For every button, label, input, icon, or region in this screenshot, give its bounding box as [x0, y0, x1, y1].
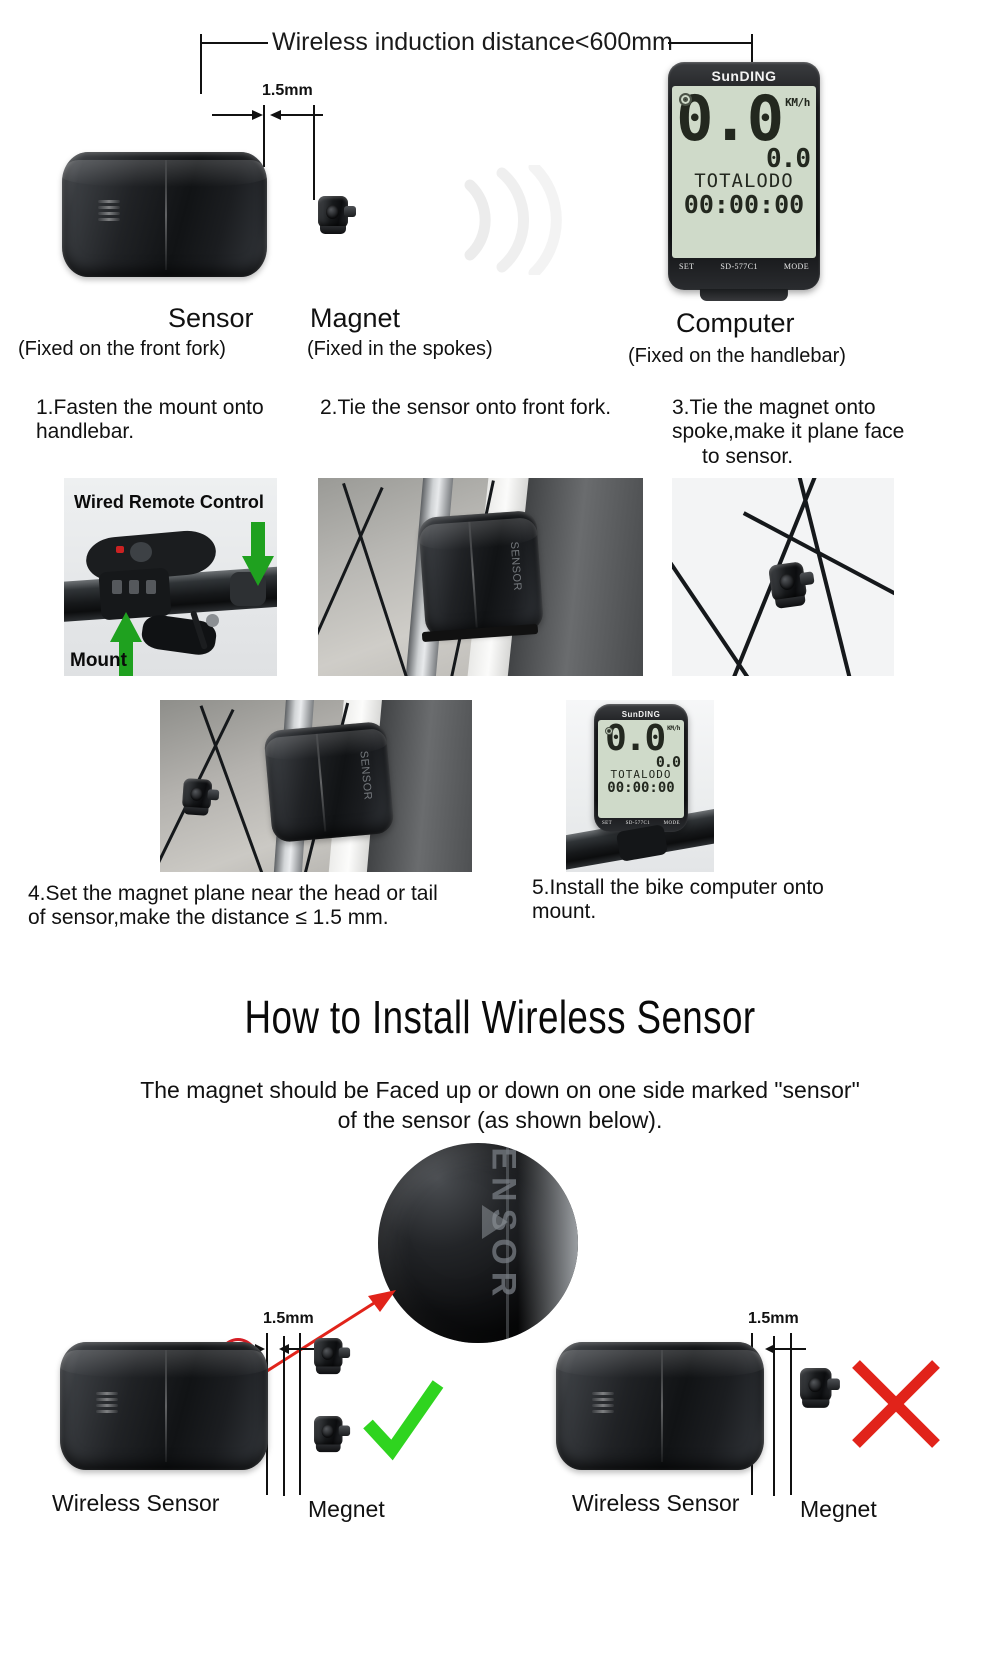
part-sub-magnet: (Fixed in the spokes) — [307, 338, 493, 361]
sensor-seam — [316, 734, 327, 832]
label-magnet-left: Megnet — [308, 1496, 385, 1523]
wireless-sensor-right: SENSOR — [556, 1342, 764, 1470]
wireless-signal-waves — [430, 165, 570, 275]
check-mark-icon — [360, 1378, 444, 1462]
label-wireless-sensor-right: Wireless Sensor — [572, 1490, 739, 1517]
magnet-hole — [322, 1347, 334, 1360]
step-1-line1: 1.Fasten the mount onto — [36, 396, 306, 420]
arrow-to-remote-icon — [240, 520, 276, 588]
sensor-seam — [165, 160, 167, 270]
lcd-screen: 0.0 KM/h 0.0 TOTALODO 00:00:00 — [672, 86, 816, 258]
divider — [283, 1336, 285, 1496]
screw-head — [206, 614, 219, 627]
gap-label-right: 1.5mm — [748, 1310, 799, 1328]
magnet-foot — [320, 226, 346, 234]
mode-button[interactable]: MODE — [784, 262, 809, 271]
sensor-embossed-text: SENSOR — [508, 541, 523, 591]
lcd-time-value: 00:00:00 — [678, 192, 810, 218]
wireless-sensor-unit: SENSOR — [62, 152, 267, 277]
divider — [773, 1336, 775, 1496]
photo1-caption-mount: Mount — [70, 650, 127, 672]
photo-sensor-on-fork: SENSOR — [318, 478, 643, 676]
lcd-speed-row: 0.0 KM/h — [602, 722, 680, 755]
step-4-line1: 4.Set the magnet plane near the head or … — [28, 882, 528, 906]
section-subtitle-line2: of the sensor (as shown below). — [0, 1106, 1000, 1135]
sensor-highlight — [518, 1143, 578, 1343]
signal-icon — [679, 93, 692, 106]
photo-computer-on-mount: SunDING 0.0 KM/h 0.0 TOTALODO 00:00:00 S… — [566, 700, 714, 872]
sensor-ribs — [98, 200, 120, 221]
sensor-ribs — [96, 1392, 118, 1413]
step-4-line2: of sensor,make the distance ≤ 1.5 mm. — [28, 906, 528, 930]
sensor-ribs — [592, 1392, 614, 1413]
step-3-line1: 3.Tie the magnet onto — [672, 396, 972, 420]
device-button-bar: SET SD-577C1 MODE — [672, 258, 816, 274]
induction-line-left — [200, 42, 268, 44]
step-3-line2: spoke,make it plane face — [672, 420, 972, 444]
step-2-line1: 2.Tie the sensor onto front fork. — [320, 396, 660, 420]
sensor-mounted-on-fork: SENSOR — [418, 510, 544, 638]
mount-bracket-ribs — [112, 580, 156, 594]
model-number: SD-577C1 — [720, 262, 757, 271]
spoke — [342, 483, 413, 676]
section-subtitle-line1: The magnet should be Faced up or down on… — [0, 1076, 1000, 1105]
magnet-foot — [316, 1367, 341, 1375]
photo1-caption-remote: Wired Remote Control — [74, 492, 264, 513]
part-sub-sensor: (Fixed on the front fork) — [18, 338, 226, 361]
magnet-hole — [326, 205, 339, 219]
step-5-line1: 5.Install the bike computer onto — [532, 876, 892, 900]
lcd-speed-value: 0.0 — [605, 722, 664, 755]
magnet-stub — [344, 206, 356, 217]
magnet-foot — [802, 1400, 829, 1408]
magnet-foot — [316, 1445, 341, 1453]
sensor-seam — [468, 522, 477, 628]
photo-magnet-sensor-distance: SENSOR — [160, 700, 472, 872]
wireless-sensor-left: SENSOR — [60, 1342, 268, 1470]
sensor-seam — [165, 1350, 167, 1463]
product-instruction-page: Wireless induction distance<600mm 1.5mm … — [0, 0, 1000, 1660]
part-sub-computer: (Fixed on the handlebar) — [628, 345, 846, 368]
part-title-computer: Computer — [676, 308, 795, 339]
lcd-time-value: 00:00:00 — [602, 781, 680, 796]
magnet-stub — [339, 1426, 350, 1436]
part-title-sensor: Sensor — [168, 303, 254, 334]
remote-control-button — [130, 542, 152, 562]
step-1-line2: handlebar. — [36, 420, 306, 444]
brand-logo: SunDING — [598, 708, 684, 720]
label-magnet-right: Megnet — [800, 1496, 877, 1523]
bike-computer-device: SunDING 0.0 KM/h 0.0 TOTALODO 00:00:00 S… — [668, 62, 820, 290]
cross-mark-icon — [848, 1356, 944, 1452]
remote-indicator-dot — [116, 546, 124, 553]
label-wireless-sensor-left: Wireless Sensor — [52, 1490, 219, 1517]
set-button[interactable]: SET — [602, 821, 612, 826]
magnet-stub — [207, 789, 219, 800]
lcd-speed-value: 0.0 — [676, 90, 782, 147]
magnet-foot — [183, 807, 208, 816]
bike-computer-installed: SunDING 0.0 KM/h 0.0 TOTALODO 00:00:00 S… — [594, 704, 688, 832]
magnet-stub — [799, 571, 814, 585]
sensor-seam — [661, 1350, 663, 1463]
mount-tab — [700, 289, 788, 301]
photo-mount-on-handlebar: Wired Remote Control — [64, 478, 277, 676]
step-3-line3: to sensor. — [672, 445, 972, 469]
lcd-speed-row: 0.0 KM/h — [678, 90, 810, 147]
photo-magnet-on-spoke — [672, 478, 894, 676]
model-number: SD-577C1 — [626, 821, 651, 826]
step-3-text: 3.Tie the magnet onto spoke,make it plan… — [672, 396, 972, 469]
magnet-stub — [339, 1348, 350, 1358]
sensor-arrow-mark-icon — [482, 1205, 508, 1239]
mode-button[interactable]: MODE — [664, 821, 680, 826]
gap-label-left: 1.5mm — [263, 1310, 314, 1328]
lcd-screen: 0.0 KM/h 0.0 TOTALODO 00:00:00 — [598, 720, 684, 818]
part-title-magnet: Magnet — [310, 303, 400, 334]
signal-icon — [605, 727, 613, 735]
step-3-line3-text: to sensor. — [702, 445, 793, 468]
brand-name: SunDING — [622, 710, 661, 719]
section-title: How to Install Wireless Sensor — [100, 990, 900, 1044]
magnet-stub — [827, 1379, 840, 1391]
step-2-text: 2.Tie the sensor onto front fork. — [320, 396, 660, 420]
magnet-hole — [808, 1377, 822, 1392]
step-1-text: 1.Fasten the mount onto handlebar. — [36, 396, 306, 445]
induction-line-right — [668, 42, 753, 44]
magnet-hole — [322, 1425, 334, 1438]
gap-arrows — [210, 105, 325, 125]
brand-name: SunDING — [712, 68, 777, 84]
step-4-text: 4.Set the magnet plane near the head or … — [28, 882, 528, 931]
brand-logo: SunDING — [672, 66, 816, 86]
lcd-speed-unit: KM/h — [667, 725, 680, 732]
lcd-odo-label: TOTALODO — [678, 172, 810, 192]
induction-distance-label: Wireless induction distance<600mm — [272, 28, 673, 57]
step-5-text: 5.Install the bike computer onto mount. — [532, 876, 892, 925]
lcd-speed-unit: KM/h — [785, 96, 810, 109]
step-5-line2: mount. — [532, 900, 892, 924]
sensor-embossed-text: SENSOR — [357, 750, 373, 800]
set-button[interactable]: SET — [679, 262, 694, 271]
gap-label-top: 1.5mm — [262, 82, 313, 100]
sensor-mounted-on-fork: SENSOR — [263, 721, 394, 843]
